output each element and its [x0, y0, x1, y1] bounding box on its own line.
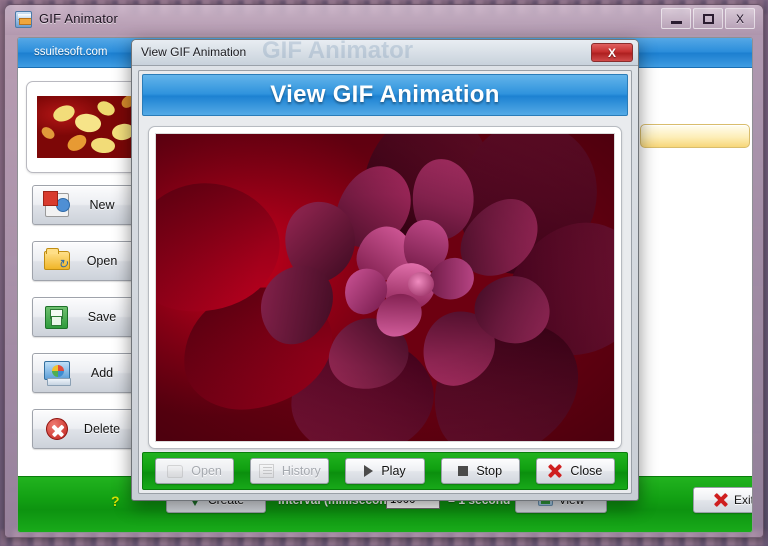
close-x-icon — [548, 464, 562, 478]
desktop-background: GIF Animator X ssuitesoft.com GIF Animat… — [0, 0, 768, 546]
dialog-button-bar: Open History Play Stop Close — [142, 452, 628, 490]
exit-button-label: Exit — [734, 493, 753, 507]
dialog-body: View GIF Animation — [138, 70, 632, 494]
add-monitor-icon — [37, 358, 77, 388]
dialog-ghost-watermark: GIF Animator — [262, 40, 413, 65]
maximize-button[interactable] — [693, 8, 723, 29]
delete-button-label: Delete — [77, 422, 135, 436]
dialog-play-button[interactable]: Play — [345, 458, 424, 484]
highlighted-list-field[interactable] — [640, 124, 750, 148]
dialog-close-label: Close — [570, 464, 602, 478]
new-document-icon — [37, 190, 77, 220]
dialog-open-label: Open — [191, 464, 222, 478]
dialog-play-label: Play — [381, 464, 405, 478]
dialog-title: View GIF Animation — [141, 45, 246, 59]
delete-circle-x-icon — [37, 414, 77, 444]
close-button[interactable]: X — [725, 8, 755, 29]
dialog-history-label: History — [282, 464, 321, 478]
dialog-stop-label: Stop — [476, 464, 502, 478]
dialog-history-button[interactable]: History — [250, 458, 329, 484]
save-button[interactable]: Save — [32, 297, 136, 337]
window-controls: X — [661, 8, 755, 29]
open-folder-icon — [37, 246, 77, 276]
open-button-label: Open — [77, 254, 135, 268]
gif-preview-image[interactable] — [155, 133, 615, 442]
new-button-label: New — [77, 198, 135, 212]
delete-button[interactable]: Delete — [32, 409, 136, 449]
open-button[interactable]: Open — [32, 241, 136, 281]
preview-image-frame — [148, 126, 622, 449]
exit-x-icon — [714, 493, 728, 507]
stop-square-icon — [458, 466, 468, 476]
add-button-label: Add — [77, 366, 135, 380]
add-button[interactable]: Add — [32, 353, 136, 393]
help-button[interactable]: ? — [111, 493, 120, 509]
dialog-header-text: View GIF Animation — [270, 81, 499, 109]
dialog-open-button[interactable]: Open — [155, 458, 234, 484]
history-pages-icon — [259, 464, 274, 478]
exit-button[interactable]: Exit — [693, 487, 753, 513]
main-window-title: GIF Animator — [39, 11, 118, 26]
dialog-header-banner: View GIF Animation — [142, 74, 628, 116]
play-triangle-icon — [364, 465, 373, 477]
tool-button-column: New Open Save Add — [32, 185, 136, 465]
open-folder-icon — [167, 465, 183, 478]
view-gif-animation-dialog: View GIF Animation GIF Animator X View G… — [131, 39, 639, 501]
main-window-titlebar[interactable]: GIF Animator X — [5, 5, 763, 35]
brand-site-label: ssuitesoft.com — [34, 46, 108, 58]
dialog-titlebar[interactable]: View GIF Animation GIF Animator X — [132, 40, 638, 66]
left-tool-panel: New Open Save Add — [18, 69, 146, 476]
minimize-button[interactable] — [661, 8, 691, 29]
floppy-disk-icon — [37, 302, 77, 332]
new-button[interactable]: New — [32, 185, 136, 225]
app-icon — [15, 11, 32, 28]
save-button-label: Save — [77, 310, 135, 324]
dialog-close-button[interactable]: X — [591, 43, 633, 62]
dialog-stop-button[interactable]: Stop — [441, 458, 520, 484]
dialog-close-action-button[interactable]: Close — [536, 458, 615, 484]
